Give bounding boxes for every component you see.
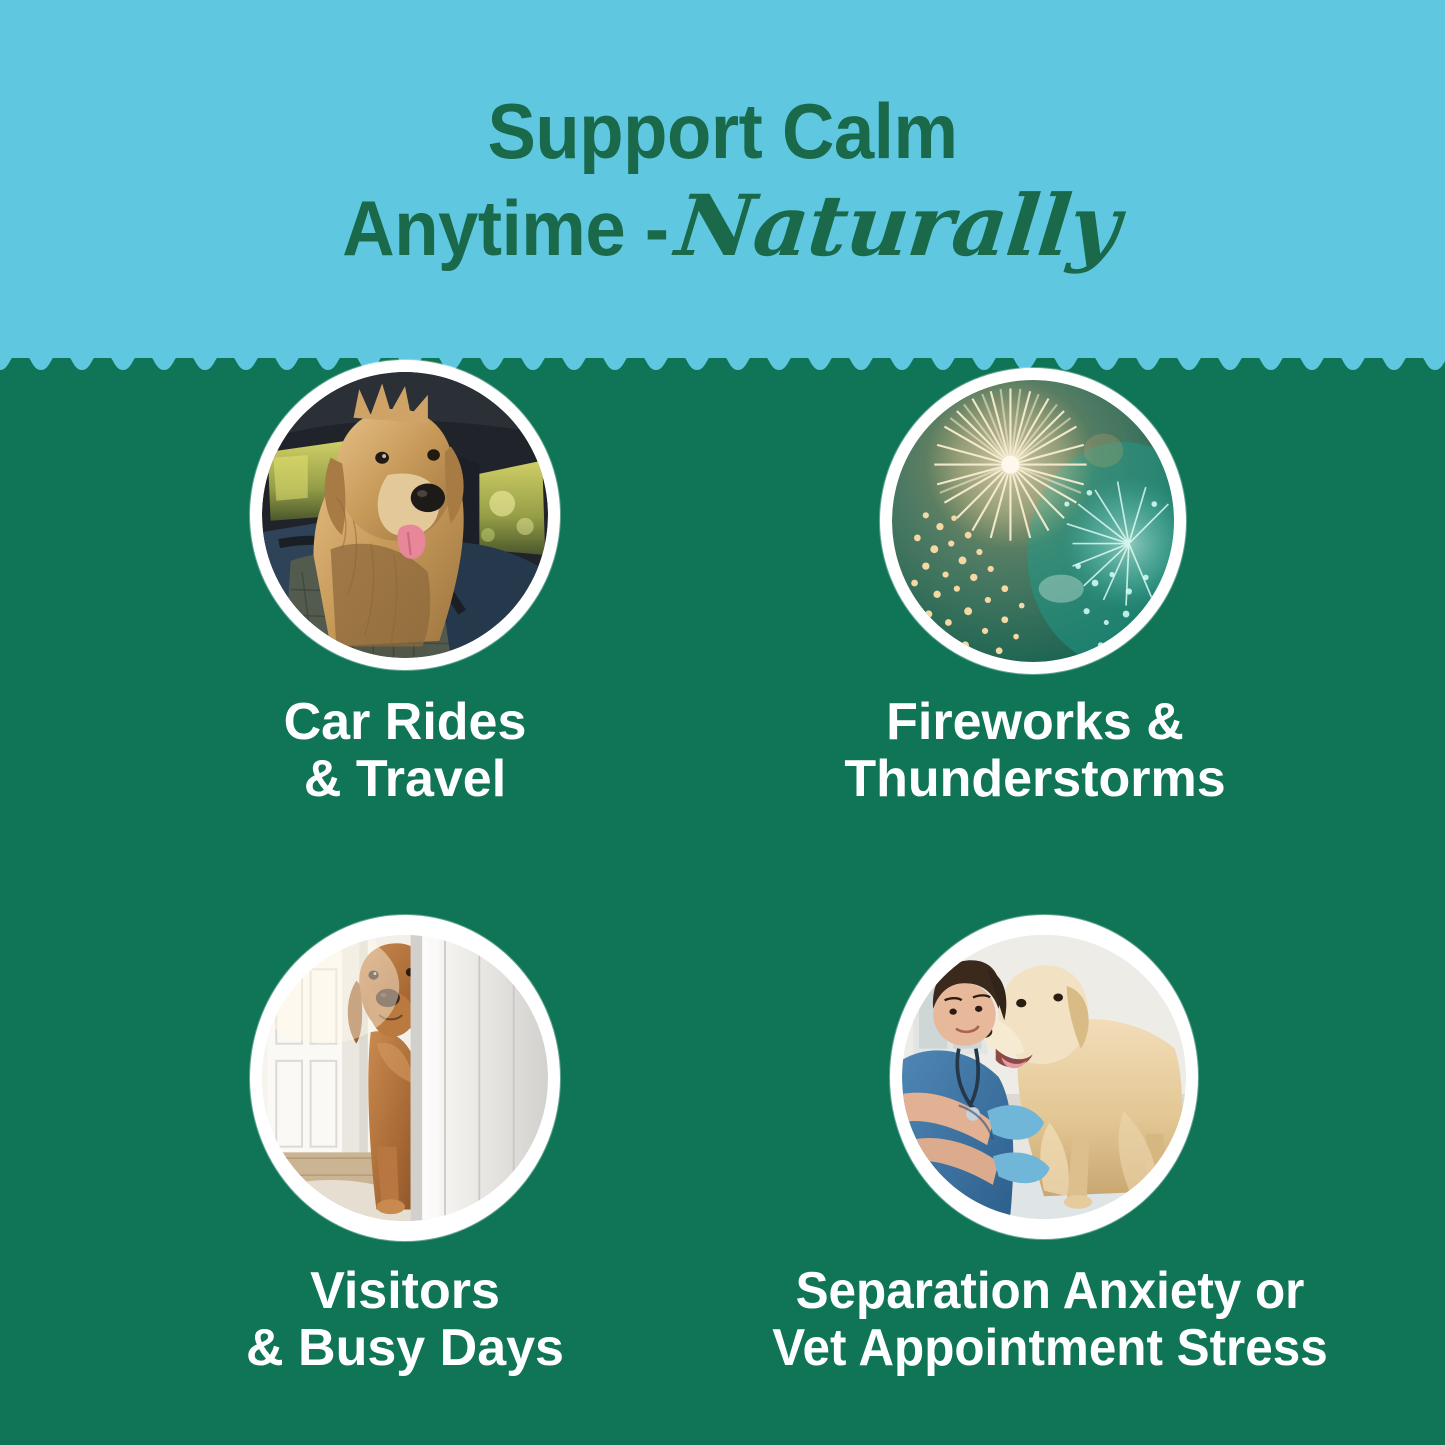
caption-line-1: Separation Anxiety or [718, 1263, 1383, 1320]
caption-line-1: Visitors [180, 1263, 630, 1320]
grid-item-vet-stress: Separation Anxiety or Vet Appointment St… [700, 915, 1400, 1405]
headline-line-2: Anytime - Naturally [0, 184, 1445, 268]
headline: Support Calm Anytime - Naturally [0, 92, 1445, 268]
caption-line-1: Car Rides [180, 694, 630, 751]
caption: Fireworks & Thunderstorms [810, 694, 1260, 808]
grid-item-visitors: Visitors & Busy Days [180, 915, 630, 1405]
photo-ring [250, 915, 560, 1241]
headline-line-2-plain: Anytime - [343, 189, 669, 267]
headline-line-2-script: Naturally [672, 184, 1123, 268]
promotional-banner: Support Calm Anytime - Naturally [0, 0, 1445, 1445]
dog-in-car-photo [262, 372, 548, 658]
caption-line-2: Vet Appointment Stress [718, 1320, 1383, 1377]
caption-line-2: & Travel [180, 751, 630, 808]
photo-ring [890, 915, 1198, 1239]
caption: Car Rides & Travel [180, 694, 630, 808]
fireworks-photo [892, 380, 1174, 662]
dog-at-doorway-photo [262, 927, 548, 1229]
photo-ring [880, 368, 1186, 674]
caption-line-2: & Busy Days [180, 1320, 630, 1377]
photo-ring [250, 360, 560, 670]
grid-item-fireworks: Fireworks & Thunderstorms [810, 360, 1260, 830]
grid-item-car-rides: Car Rides & Travel [180, 360, 630, 830]
caption-line-2: Thunderstorms [810, 751, 1260, 808]
headline-line-1: Support Calm [51, 92, 1395, 170]
caption-line-1: Fireworks & [810, 694, 1260, 751]
caption: Visitors & Busy Days [180, 1263, 630, 1377]
caption: Separation Anxiety or Vet Appointment St… [700, 1263, 1400, 1377]
vet-with-dog-photo [902, 927, 1186, 1227]
